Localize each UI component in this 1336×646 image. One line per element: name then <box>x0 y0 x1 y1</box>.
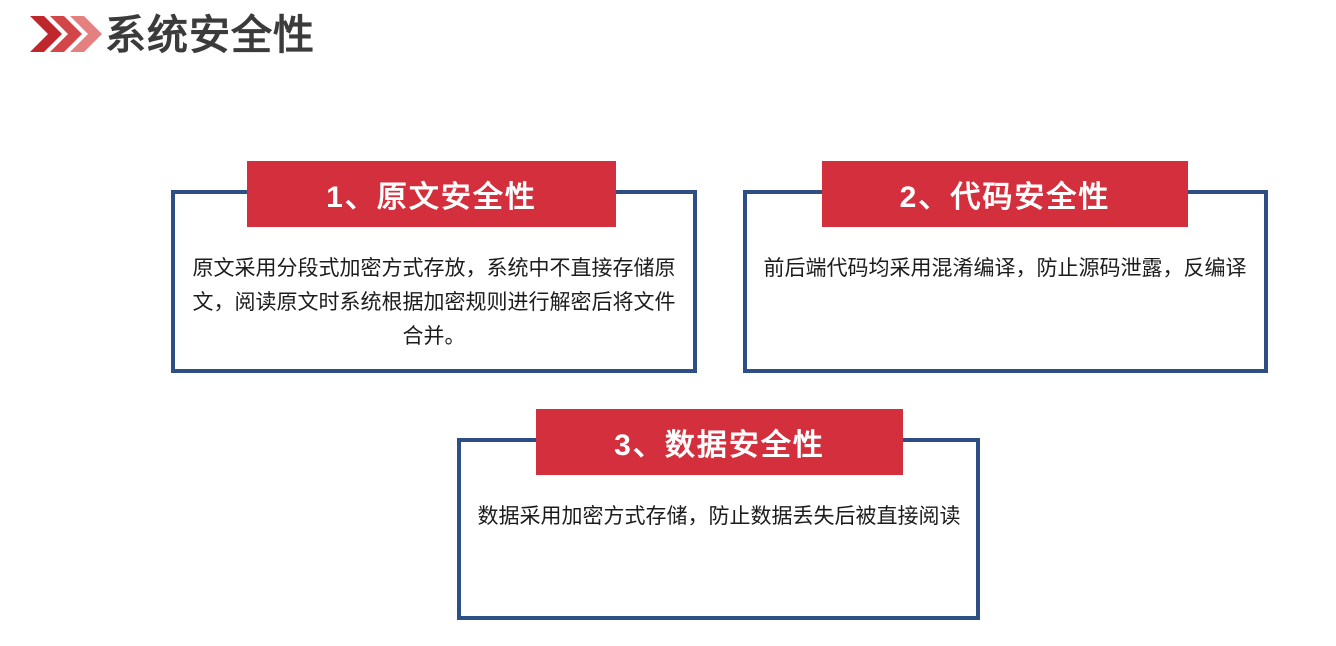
card-2-body-text: 前后端代码均采用混淆编译，防止源码泄露，反编译 <box>755 252 1255 286</box>
card-1-body-text: 原文采用分段式加密方式存放，系统中不直接存储原文，阅读原文时系统根据加密规则进行… <box>185 252 683 354</box>
card-2-header: 2、代码安全性 <box>822 161 1188 227</box>
card-1-header: 1、原文安全性 <box>247 161 616 227</box>
page-header: 系统安全性 <box>0 0 1336 80</box>
card-3-body-text: 数据采用加密方式存储，防止数据丢失后被直接阅读 <box>470 500 968 534</box>
page-title: 系统安全性 <box>105 7 315 63</box>
card-3-header: 3、数据安全性 <box>536 409 903 475</box>
triple-chevron-right-svg <box>30 14 102 54</box>
triple-chevron-right-icon <box>30 14 102 54</box>
